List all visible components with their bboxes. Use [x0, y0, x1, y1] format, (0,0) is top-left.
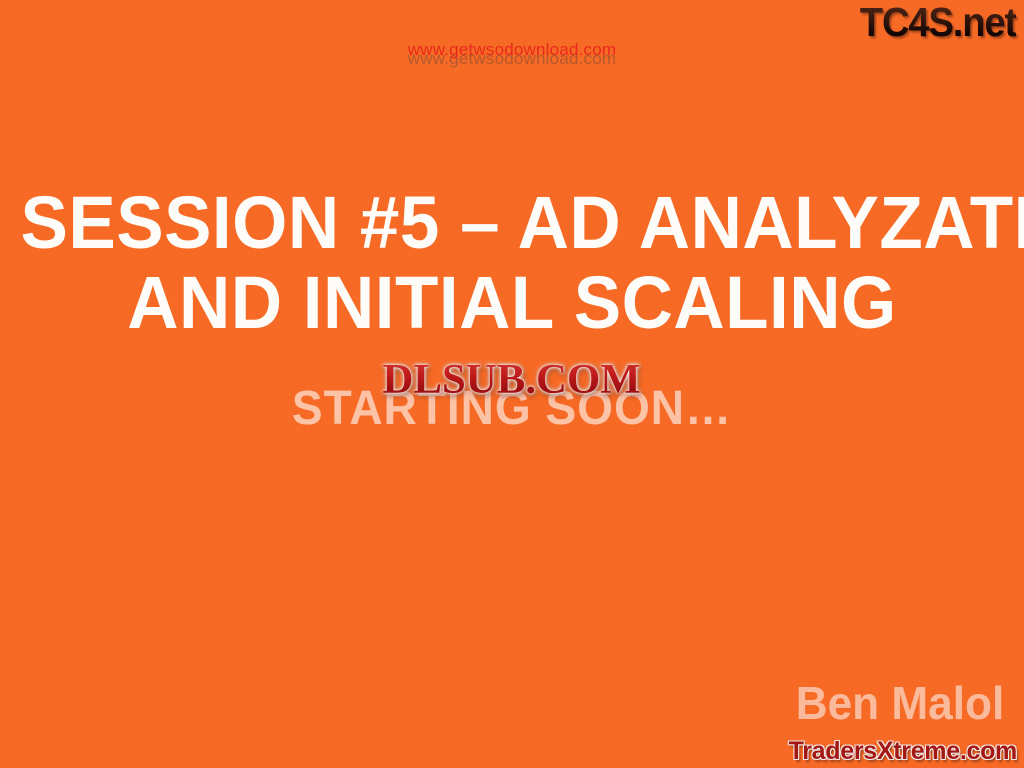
- slide-title-line-2: AND INITIAL SCALING: [20, 263, 1003, 343]
- slide-author-name: Ben Malol: [795, 680, 1004, 726]
- watermark-tc4s-logo: TC4S.net: [860, 1, 1016, 44]
- presentation-slide: www.getwsodownload.com TC4S.net SESSION …: [0, 0, 1024, 768]
- slide-title: SESSION #5 – AD ANALYZATION AND INITIAL …: [0, 183, 1024, 343]
- slide-title-line-1: SESSION #5 – AD ANALYZATION: [20, 183, 1003, 263]
- slide-subtitle: STARTING SOON…: [20, 385, 1003, 433]
- watermark-tradersxtreme: TradersXtreme.com: [789, 739, 1017, 764]
